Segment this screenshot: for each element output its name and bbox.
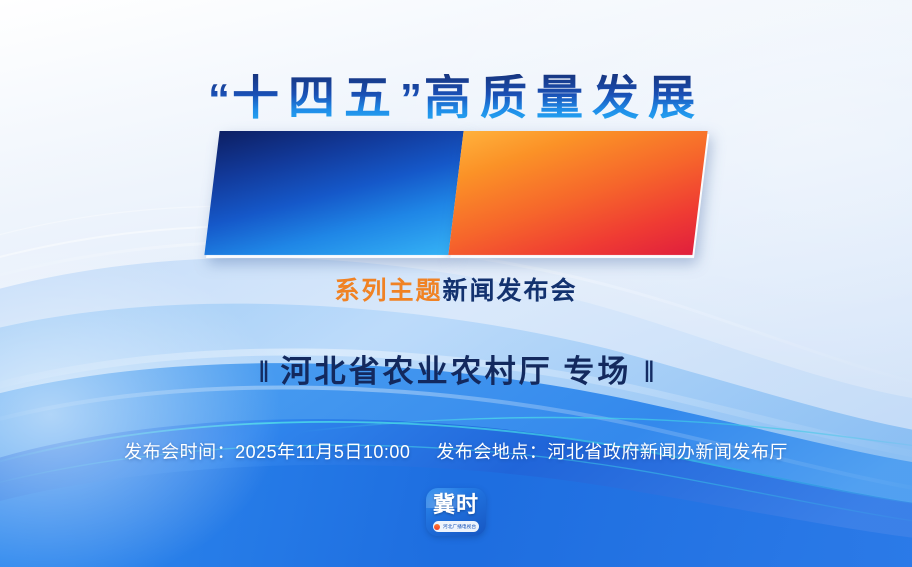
headline-top-keyword: 十四五	[232, 71, 400, 124]
series-subtitle: 系列主题新闻发布会	[0, 279, 912, 304]
bar-left: ‖	[257, 354, 270, 389]
logo-broadcaster-bar: 河北广播电视台	[433, 521, 479, 532]
time-value: 2025年11月5日10:00	[235, 442, 410, 462]
logo-broadcaster-name: 河北广播电视台	[443, 523, 476, 530]
quote-open: “	[208, 75, 232, 124]
place-value: 河北省政府新闻办新闻发布厅	[547, 442, 788, 462]
session-department: 河北省农业农村厅 专场	[281, 354, 632, 389]
series-subtitle-orange: 系列主题	[334, 277, 442, 305]
main-title: 河北答卷	[0, 131, 912, 255]
main-title-warm: 答卷	[448, 131, 707, 255]
headline-top: “十四五”高质量发展	[0, 74, 912, 122]
press-conference-poster: “十四五”高质量发展 河北答卷 系列主题新闻发布会 ‖ 河北省农业农村厅 专场 …	[0, 0, 912, 567]
series-subtitle-blue: 新闻发布会	[443, 277, 578, 305]
main-title-blue: 河北	[204, 131, 463, 255]
logo-plate: 冀时 河北广播电视台	[426, 488, 486, 536]
quote-close: ”	[400, 75, 424, 124]
logo-flame-icon	[434, 524, 440, 530]
headline-top-tail: 高质量发展	[424, 71, 704, 124]
session-line: ‖ 河北省农业农村厅 专场 ‖	[0, 356, 912, 387]
event-details: 发布会时间：2025年11月5日10:00发布会地点：河北省政府新闻办新闻发布厅	[0, 443, 912, 461]
bar-right: ‖	[642, 354, 655, 389]
time-label: 发布会时间：	[124, 442, 235, 462]
place-label: 发布会地点：	[436, 442, 547, 462]
broadcaster-logo: 冀时 河北广播电视台	[426, 488, 486, 548]
logo-brand-mark: 冀时	[426, 491, 486, 519]
